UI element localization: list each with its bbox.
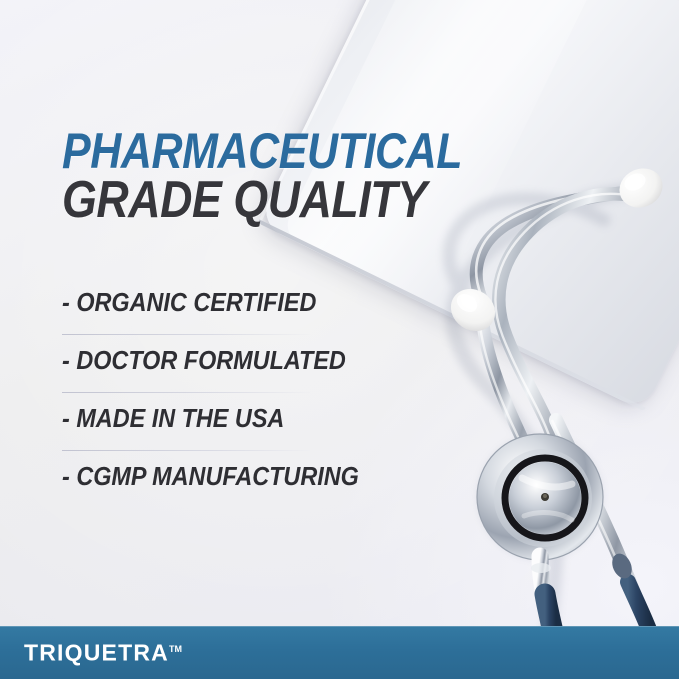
feature-item-text: MADE IN THE USA — [76, 403, 284, 433]
feature-divider — [62, 392, 310, 393]
feature-item-marker: - — [62, 287, 70, 317]
feature-item-doctor-formulated: - DOCTOR FORMULATED — [62, 339, 362, 397]
brand-footer-top-edge — [0, 626, 679, 627]
feature-list: - ORGANIC CERTIFIED - DOCTOR FORMULATED … — [62, 281, 362, 513]
feature-divider — [62, 334, 310, 335]
feature-item-marker: - — [62, 403, 70, 433]
headline-line-2: GRADE QUALITY — [62, 177, 406, 225]
feature-item-label: - MADE IN THE USA — [62, 397, 332, 431]
feature-divider — [62, 450, 310, 451]
feature-item-text: ORGANIC CERTIFIED — [76, 287, 316, 317]
headline-line-1: PHARMACEUTICAL — [62, 128, 406, 174]
feature-item-label: - CGMP MANUFACTURING — [62, 455, 332, 489]
headline: PHARMACEUTICAL GRADE QUALITY — [62, 128, 462, 225]
feature-item-text: CGMP MANUFACTURING — [76, 461, 359, 491]
feature-item-marker: - — [62, 345, 70, 375]
feature-item-organic-certified: - ORGANIC CERTIFIED — [62, 281, 362, 339]
brand-footer-bar: TRIQUETRATM — [0, 626, 679, 679]
feature-item-cgmp-manufacturing: - CGMP MANUFACTURING — [62, 455, 362, 513]
brand-logo: TRIQUETRATM — [24, 641, 182, 664]
feature-item-made-in-the-usa: - MADE IN THE USA — [62, 397, 362, 455]
feature-item-label: - DOCTOR FORMULATED — [62, 339, 332, 373]
feature-item-marker: - — [62, 461, 70, 491]
feature-item-text: DOCTOR FORMULATED — [76, 345, 346, 375]
feature-item-label: - ORGANIC CERTIFIED — [62, 281, 332, 315]
marketing-banner: shift — [0, 0, 679, 679]
trademark-symbol: TM — [169, 643, 182, 653]
brand-name: TRIQUETRA — [24, 639, 169, 665]
